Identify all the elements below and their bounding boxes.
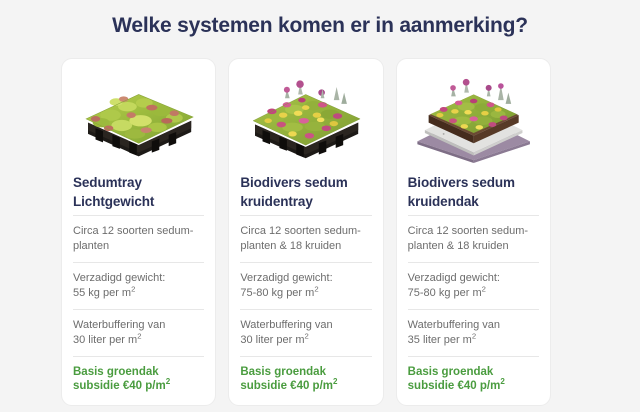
card-title-line-1: Biodivers sedum — [240, 173, 371, 192]
card-title-line-1: Sedumtray — [73, 173, 204, 192]
system-card[interactable]: Sedumtray Lichtgewicht Circa 12 soorten … — [61, 58, 216, 406]
spec-line: 75-80 kg per m2 — [408, 286, 539, 301]
spec-line: 30 liter per m2 — [240, 333, 371, 348]
card-title: Sedumtray Lichtgewicht — [73, 173, 204, 215]
subsidy-note: Basis groendak subsidie €40 p/m2 — [73, 356, 204, 393]
systems-overview-page: Welke systemen komen er in aanmerking? — [0, 0, 640, 412]
spec-plants: Circa 12 soorten sedum- planten & 18 kru… — [408, 215, 539, 262]
spec-line: Circa 12 soorten sedum- — [408, 224, 539, 239]
system-card[interactable]: Biodivers sedum kruidentray Circa 12 soo… — [228, 58, 383, 406]
spec-line: planten & 18 kruiden — [240, 239, 371, 254]
biodivers-sedum-kruidentray-illustration — [240, 71, 371, 163]
page-title: Welke systemen komen er in aanmerking? — [0, 12, 640, 40]
card-title-line-2: kruidendak — [408, 192, 539, 211]
system-card-list: Sedumtray Lichtgewicht Circa 12 soorten … — [61, 58, 551, 406]
card-title-line-1: Biodivers sedum — [408, 173, 539, 192]
spec-line: planten — [73, 239, 204, 254]
subsidy-line: subsidie €40 p/m2 — [73, 379, 204, 393]
spec-weight: Verzadigd gewicht: 75-80 kg per m2 — [408, 262, 539, 309]
card-title-line-2: Lichtgewicht — [73, 192, 204, 211]
spec-weight: Verzadigd gewicht: 55 kg per m2 — [73, 262, 204, 309]
spec-line: 30 liter per m2 — [73, 333, 204, 348]
card-title: Biodivers sedum kruidendak — [408, 173, 539, 215]
spec-plants: Circa 12 soorten sedum- planten — [73, 215, 204, 262]
spec-plants: Circa 12 soorten sedum- planten & 18 kru… — [240, 215, 371, 262]
sedumtray-lichtgewicht-illustration — [73, 71, 204, 163]
spec-line: planten & 18 kruiden — [408, 239, 539, 254]
spec-water-buffering: Waterbuffering van 30 liter per m2 — [240, 309, 371, 356]
spec-line: 35 liter per m2 — [408, 333, 539, 348]
spec-line: Circa 12 soorten sedum- — [73, 224, 204, 239]
spec-water-buffering: Waterbuffering van 30 liter per m2 — [73, 309, 204, 356]
subsidy-note: Basis groendak subsidie €40 p/m2 — [408, 356, 539, 393]
spec-weight: Verzadigd gewicht: 75-80 kg per m2 — [240, 262, 371, 309]
spec-water-buffering: Waterbuffering van 35 liter per m2 — [408, 309, 539, 356]
spec-line: 55 kg per m2 — [73, 286, 204, 301]
spec-line: Verzadigd gewicht: — [73, 271, 204, 286]
biodivers-sedum-kruidendak-illustration — [408, 71, 539, 163]
system-card[interactable]: Biodivers sedum kruidendak Circa 12 soor… — [396, 58, 551, 406]
spec-line: Verzadigd gewicht: — [240, 271, 371, 286]
card-title-line-2: kruidentray — [240, 192, 371, 211]
subsidy-line: Basis groendak — [408, 365, 539, 379]
subsidy-line: Basis groendak — [240, 365, 371, 379]
spec-line: Verzadigd gewicht: — [408, 271, 539, 286]
subsidy-line: subsidie €40 p/m2 — [240, 379, 371, 393]
subsidy-note: Basis groendak subsidie €40 p/m2 — [240, 356, 371, 393]
card-title: Biodivers sedum kruidentray — [240, 173, 371, 215]
spec-line: 75-80 kg per m2 — [240, 286, 371, 301]
spec-line: Circa 12 soorten sedum- — [240, 224, 371, 239]
subsidy-line: subsidie €40 p/m2 — [408, 379, 539, 393]
subsidy-line: Basis groendak — [73, 365, 204, 379]
